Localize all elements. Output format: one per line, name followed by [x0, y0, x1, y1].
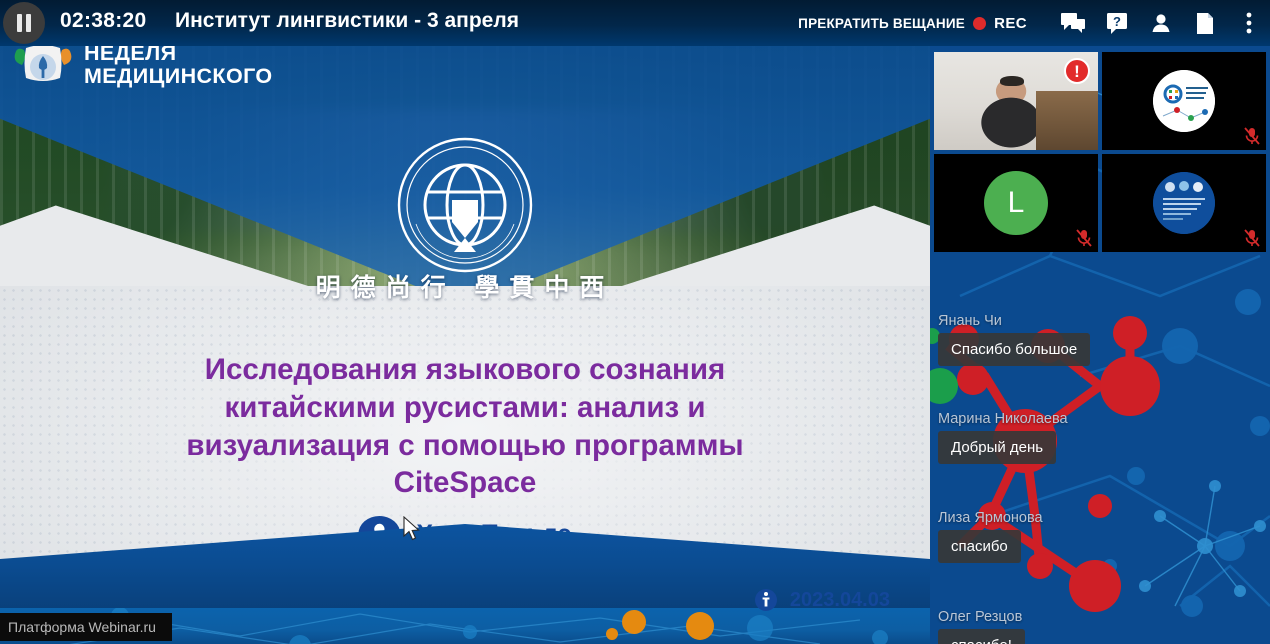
- stop-broadcast-button[interactable]: ПРЕКРАТИТЬ ВЕЩАНИЕ: [798, 16, 965, 31]
- mic-muted-icon: [1244, 229, 1260, 247]
- chat-author: Олег Резцов: [938, 609, 1268, 625]
- event-logo-line2: МЕДИЦИНСКОГО: [84, 64, 273, 88]
- broadcast-timer: 02:38:20: [60, 9, 146, 33]
- record-label: REC: [994, 15, 1027, 32]
- record-dot-icon: [973, 17, 986, 30]
- video-tile-logo-white[interactable]: [1102, 52, 1266, 150]
- mouse-cursor: [403, 516, 421, 542]
- recording-indicator: REC: [973, 15, 1027, 32]
- video-tile-speaker[interactable]: !: [934, 52, 1098, 150]
- participants-icon[interactable]: [1148, 8, 1174, 38]
- chat-item: Янань Чи Спасибо большое: [938, 313, 1268, 366]
- alert-icon: !: [1064, 58, 1090, 84]
- question-icon[interactable]: ?: [1104, 8, 1130, 38]
- chat-message: спасибо: [938, 530, 1021, 563]
- webinar-app: 明德尚行 學貫中西 Исследования языкового сознани…: [0, 0, 1270, 644]
- chat-messages[interactable]: Янань Чи Спасибо большое Марина Николаев…: [930, 258, 1270, 644]
- chat-message: спасибо!: [938, 629, 1025, 644]
- top-toolbar: 02:38:20 Институт лингвистики - 3 апреля…: [0, 0, 1270, 46]
- chat-item: Лиза Ярмонова спасибо: [938, 510, 1268, 563]
- avatar: L: [984, 171, 1048, 235]
- toolbar-icons: ?: [1060, 8, 1262, 38]
- info-icon: [754, 588, 778, 612]
- svg-text:?: ?: [1113, 14, 1121, 29]
- chat-author: Янань Чи: [938, 313, 1268, 329]
- chat-message: Добрый день: [938, 431, 1056, 464]
- chat-icon[interactable]: [1060, 8, 1086, 38]
- pause-bar-right: [26, 14, 31, 32]
- chat-author: Марина Николаева: [938, 411, 1268, 427]
- chat-item: Олег Резцов спасибо!: [938, 609, 1268, 644]
- session-title: Институт лингвистики - 3 апреля: [175, 9, 519, 33]
- platform-watermark: Платформа Webinar.ru: [0, 613, 172, 641]
- video-tile-logo-blue[interactable]: [1102, 154, 1266, 252]
- presentation-slide[interactable]: 明德尚行 學貫中西 Исследования языкового сознани…: [0, 46, 930, 644]
- slide-title: Исследования языкового сознания китайски…: [125, 351, 805, 502]
- organization-logo: [1153, 70, 1215, 132]
- more-menu-icon[interactable]: [1236, 8, 1262, 38]
- event-logo-text: НЕДЕЛЯ МЕДИЦИНСКОГО: [84, 42, 273, 88]
- gdufs-emblem: [394, 134, 536, 276]
- right-sidebar: !: [930, 46, 1270, 644]
- university-motto: 明德尚行 學貫中西: [316, 268, 615, 304]
- chat-item: Марина Николаева Добрый день: [938, 411, 1268, 464]
- date-row: 2023.04.03: [754, 588, 890, 612]
- video-tiles: !: [930, 52, 1270, 252]
- chat-message: Спасибо большое: [938, 333, 1090, 366]
- pause-bar-left: [17, 14, 22, 32]
- organization-logo-blue: [1153, 172, 1215, 234]
- pause-button[interactable]: [3, 2, 45, 44]
- chat-author: Лиза Ярмонова: [938, 510, 1268, 526]
- files-icon[interactable]: [1192, 8, 1218, 38]
- mic-muted-icon: [1076, 229, 1092, 247]
- mic-muted-icon: [1244, 127, 1260, 145]
- video-tile-avatar[interactable]: L: [934, 154, 1098, 252]
- presentation-date: 2023.04.03: [790, 589, 890, 612]
